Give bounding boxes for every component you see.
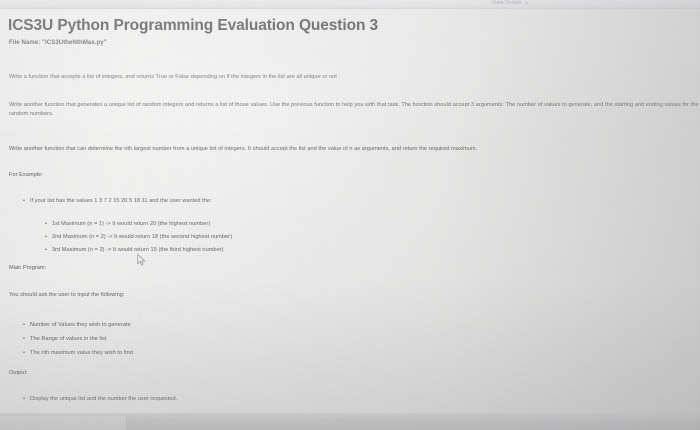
- example-intro-bullet: • If your list has the values 1 3 7 2 15…: [30, 198, 212, 204]
- example-item-2: 2nd Maximum (n = 2) -> It would return 1…: [52, 234, 232, 240]
- bullet-glyph-icon: •: [23, 350, 25, 356]
- output-item-1: Display the unique list and the number t…: [30, 396, 177, 402]
- list-item: • 3rd Maximum (n = 3) -> It would return…: [52, 247, 224, 253]
- bullet-glyph-icon: •: [45, 234, 47, 240]
- input-item-2: The Range of values in the list: [30, 336, 107, 342]
- bullet-glyph-icon: •: [45, 247, 47, 253]
- main-program-label: Main Program:: [9, 265, 46, 271]
- taskbar-left-segment: [0, 416, 127, 430]
- list-item: • The nth maximum value they wish to fin…: [30, 350, 133, 356]
- bullet-glyph-icon: •: [23, 322, 25, 328]
- screen-photo: View Details ✎ ICS3U Python Programming …: [0, 0, 700, 430]
- list-item: • The Range of values in the list: [30, 336, 107, 342]
- for-example-label: For Example:: [9, 172, 43, 178]
- example-item-3: 3rd Maximum (n = 3) -> It would return 1…: [52, 247, 224, 253]
- mouse-cursor-icon: [137, 254, 146, 266]
- example-intro-text: If your list has the values 1 3 7 2 15 2…: [30, 198, 212, 204]
- example-item-1: 1st Maximum (n = 1) -> It would return 2…: [52, 221, 210, 227]
- bullet-glyph-icon: •: [23, 198, 25, 204]
- bullet-glyph-icon: •: [23, 396, 25, 402]
- bullet-glyph-icon: •: [45, 221, 47, 227]
- list-item: • Display the unique list and the number…: [30, 396, 177, 402]
- list-item: • 2nd Maximum (n = 2) -> It would return…: [52, 234, 232, 240]
- input-item-3: The nth maximum value they wish to find: [30, 350, 133, 356]
- file-name-line: File Name: "ICS3UtheNthMax.py": [9, 39, 107, 46]
- input-intro-text: You should ask the user to input the fol…: [9, 291, 125, 300]
- output-label: Output:: [9, 370, 28, 376]
- list-item: • 1st Maximum (n = 1) -> It would return…: [52, 221, 210, 227]
- page-title: ICS3U Python Programming Evaluation Ques…: [8, 17, 378, 35]
- input-item-1: Number of Values they wish to generate: [30, 322, 131, 328]
- bullet-glyph-icon: •: [23, 336, 25, 342]
- paragraph-nth-largest: Write another function that can determin…: [9, 145, 699, 154]
- paragraph-random-list: Write another function that generates a …: [9, 101, 699, 118]
- list-item: • Number of Values they wish to generate: [30, 322, 131, 328]
- paragraph-unique-check: Write a function that accepts a list of …: [9, 73, 337, 82]
- document-body: ICS3U Python Programming Evaluation Ques…: [0, 0, 700, 430]
- taskbar-right-segment: [126, 419, 700, 430]
